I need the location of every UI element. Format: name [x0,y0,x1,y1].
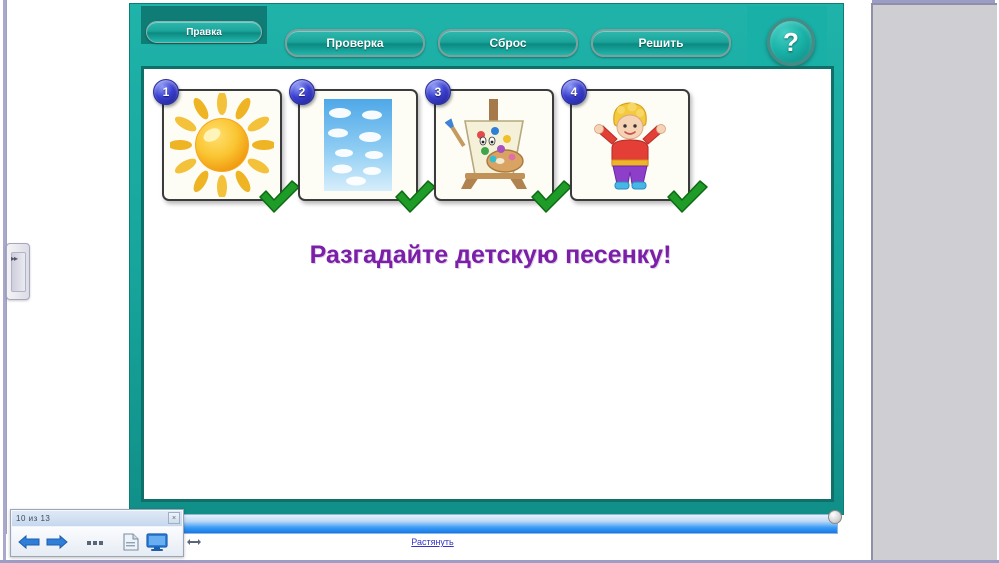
check-mark-icon [528,177,574,217]
content-board: 1 [141,66,834,502]
scrollbar-thumb[interactable] [828,510,842,524]
nav-panel-toolbar [12,527,182,556]
check-mark-icon [392,177,438,217]
arrow-left-icon[interactable] [18,534,40,550]
slide-counter: 10 из 13 [12,514,50,523]
page-print-icon[interactable] [122,533,140,551]
card-number-badge: 1 [153,79,179,105]
card-number-badge: 2 [289,79,315,105]
card-number-badge: 3 [425,79,451,105]
solve-button-label: Решить [638,36,683,50]
page-title: Разгадайте детскую песенку! [144,241,837,270]
right-gutter-panel [871,3,997,561]
nav-panel-titlebar: 10 из 13 × [12,511,182,526]
horizontal-scrollbar[interactable] [166,514,838,534]
close-icon[interactable]: × [168,512,180,524]
sky-card[interactable]: 2 [298,89,418,201]
check-button[interactable]: Проверка [285,29,425,57]
monitor-icon[interactable] [146,533,168,551]
reset-button[interactable]: Сброс [438,29,578,57]
check-mark-icon [256,177,302,217]
sidebar-splitter-handle[interactable]: ▸▸ [6,243,30,300]
check-button-label: Проверка [326,36,383,50]
resize-icon[interactable] [186,537,202,547]
card-number-badge: 4 [561,79,587,105]
expand-arrows-icon: ▸▸ [11,254,17,263]
edit-button[interactable]: Правка [146,21,262,43]
edit-button-label: Правка [186,27,222,38]
app-root: ▸▸ Правка Проверка Сброс Решить ? [0,0,999,563]
arrow-right-icon[interactable] [46,534,68,550]
application-frame: Правка Проверка Сброс Решить ? [129,3,844,515]
easel-card[interactable]: 3 [434,89,554,201]
slide-nav-panel: 10 из 13 × [10,509,184,557]
toolbar: Правка Проверка Сброс Решить ? [130,4,845,66]
question-mark-icon: ? [783,27,799,58]
check-mark-icon [664,177,710,217]
cards-row: 1 [162,89,822,214]
boy-card[interactable]: 4 [570,89,690,201]
more-options-icon[interactable] [86,537,104,547]
sun-card[interactable]: 1 [162,89,282,201]
reset-button-label: Сброс [489,36,526,50]
help-button[interactable]: ? [767,18,815,66]
solve-button[interactable]: Решить [591,29,731,57]
